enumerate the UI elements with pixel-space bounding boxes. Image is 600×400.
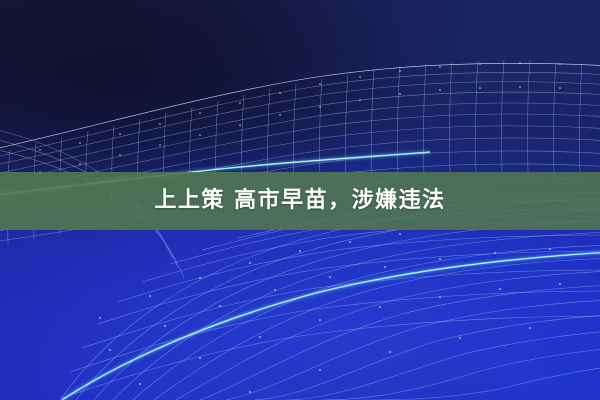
banner-title: 上上策 高市早苗，涉嫌违法	[154, 190, 445, 212]
title-banner: 上上策 高市早苗，涉嫌违法	[0, 172, 600, 230]
banner-image: 上上策 高市早苗，涉嫌违法	[0, 0, 600, 400]
